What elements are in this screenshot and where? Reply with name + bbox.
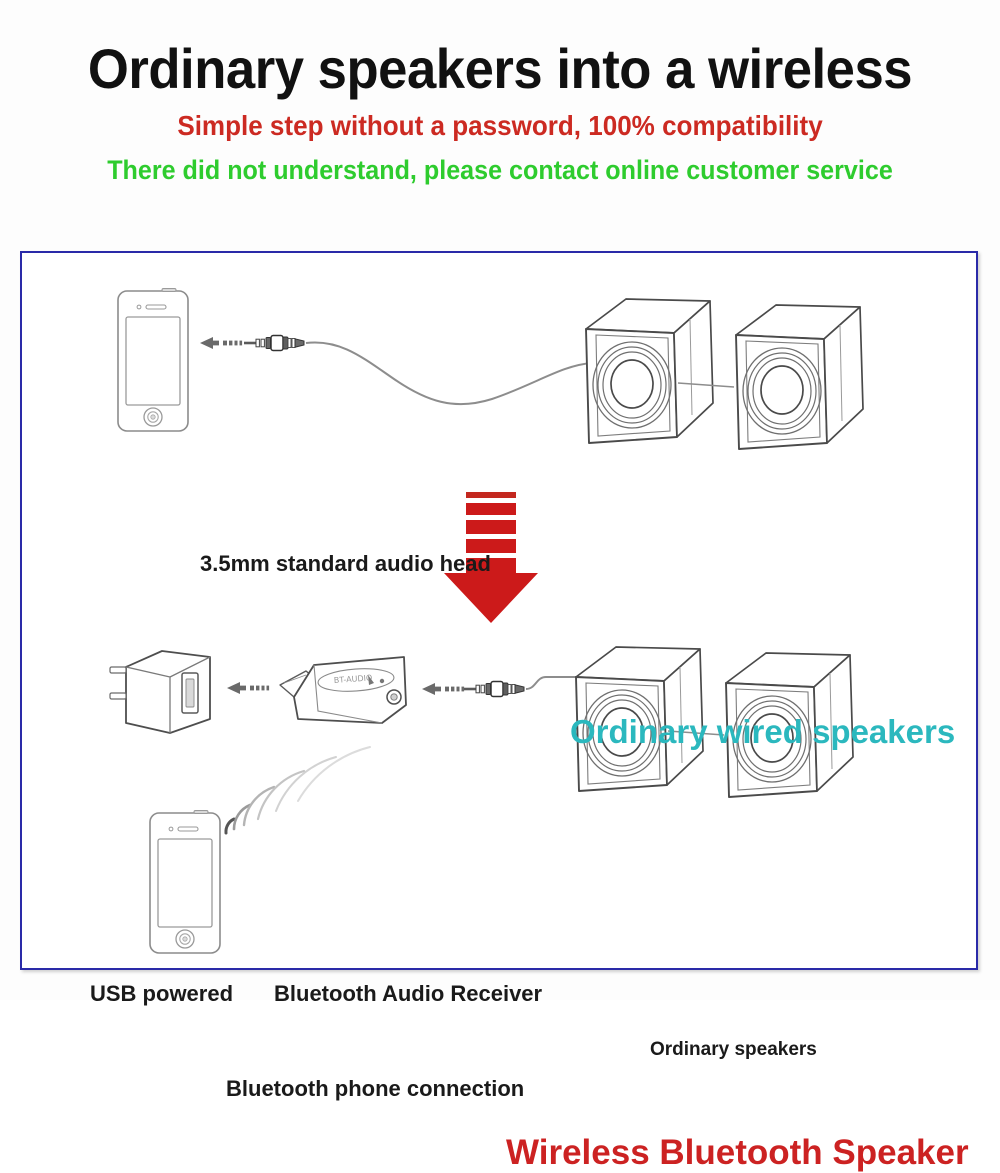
top-speaker-left (586, 299, 713, 443)
top-speaker-right (736, 305, 863, 449)
jack-arrow (422, 683, 464, 695)
caption-wireless-bluetooth-speaker: Wireless Bluetooth Speaker (506, 1133, 969, 1173)
label-audio-head: 3.5mm standard audio head (200, 551, 491, 577)
subtitle-green: There did not understand, please contact… (35, 155, 965, 186)
diagram-panel: BT-AUDIO (20, 251, 978, 970)
bluetooth-signal-waves (226, 747, 370, 833)
top-audio-cable (306, 342, 592, 404)
top-phone (118, 289, 188, 432)
page-title: Ordinary speakers into a wireless (30, 36, 970, 101)
label-bluetooth-receiver: Bluetooth Audio Receiver (274, 981, 542, 1007)
bottom-audio-plug (464, 682, 524, 697)
bluetooth-receiver-icon: BT-AUDIO (280, 657, 406, 723)
header: Ordinary speakers into a wireless Simple… (0, 0, 1000, 245)
diagram-canvas: BT-AUDIO (22, 253, 976, 968)
top-plug-arrow (200, 337, 242, 349)
subtitle-red: Simple step without a password, 100% com… (35, 110, 965, 142)
usb-power-adapter-icon (110, 651, 210, 733)
top-audio-plug (244, 336, 304, 351)
bottom-phone (150, 811, 220, 954)
label-ordinary-speakers: Ordinary speakers (650, 1039, 817, 1061)
label-bluetooth-phone-connection: Bluetooth phone connection (226, 1076, 524, 1102)
label-usb-powered: USB powered (90, 981, 233, 1007)
page-root: Ordinary speakers into a wireless Simple… (0, 0, 1000, 1000)
caption-wired-speakers: Ordinary wired speakers (570, 713, 955, 751)
usb-arrow (227, 682, 269, 694)
